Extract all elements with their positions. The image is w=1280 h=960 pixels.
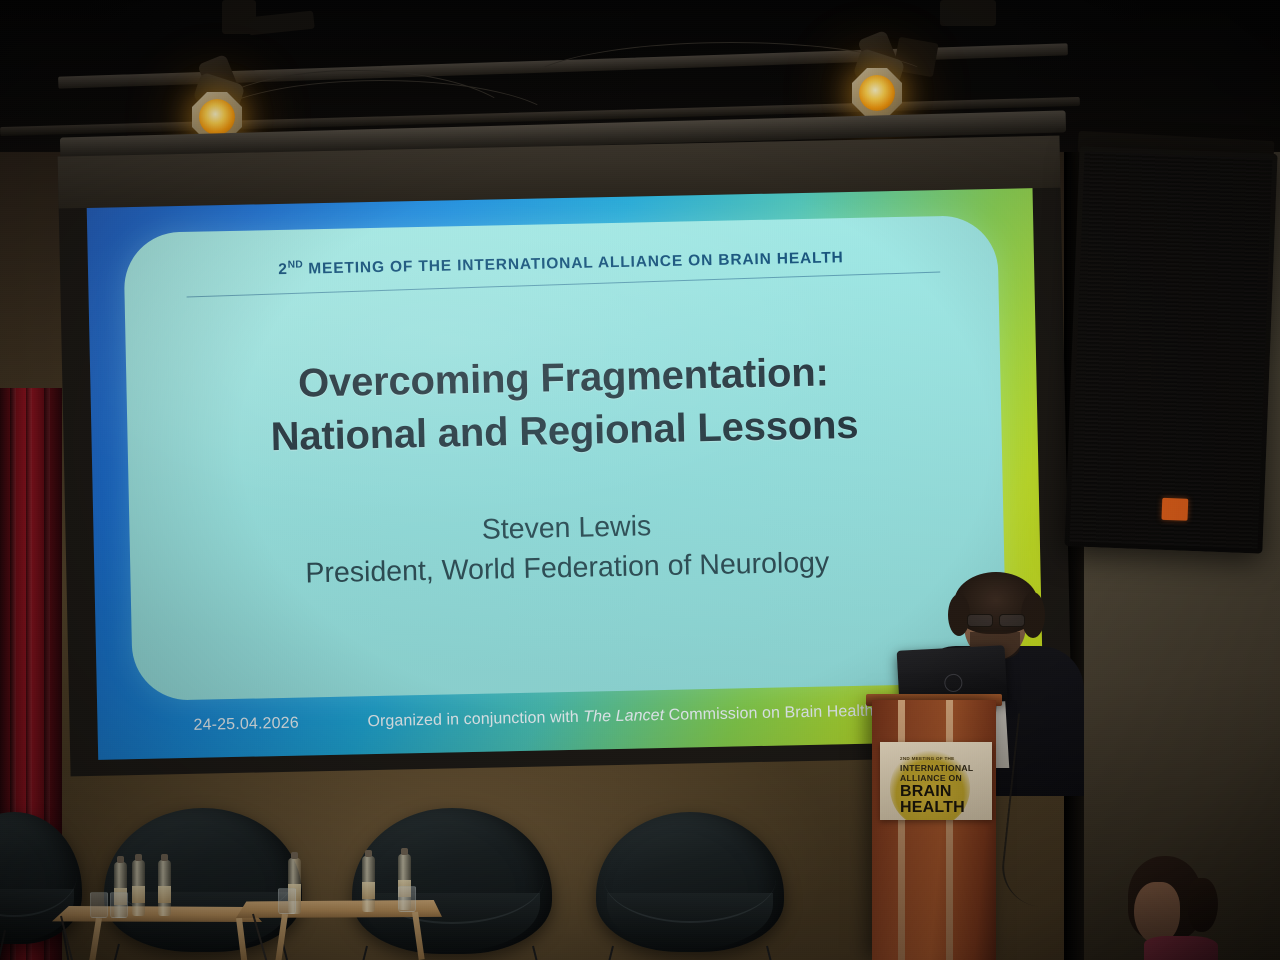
bottle-cap xyxy=(117,856,124,863)
drinking-glass xyxy=(90,892,108,918)
slide-content-panel: 2ND MEETING OF THE INTERNATIONAL ALLIANC… xyxy=(123,215,1007,701)
speaker-brand-badge-icon xyxy=(1161,498,1188,521)
wall-loudspeaker xyxy=(1064,146,1277,553)
lectern xyxy=(872,700,996,960)
lectern-inlay-strip xyxy=(898,700,905,960)
slide-title: Overcoming Fragmentation: National and R… xyxy=(176,344,952,466)
bottle-cap xyxy=(291,852,298,859)
bottle-cap xyxy=(365,850,372,857)
sign-brain-word: BRAIN xyxy=(900,784,952,800)
organizer-text-post: Commission on Brain Health xyxy=(664,703,874,724)
speaker-grille xyxy=(1070,152,1273,549)
bottle-label xyxy=(132,886,145,903)
sign-line-1: INTERNATIONAL xyxy=(900,763,973,773)
attendee-scarf xyxy=(1144,936,1218,960)
organizer-journal-name: The Lancet xyxy=(583,707,664,726)
drinking-glass xyxy=(278,888,296,914)
sign-tiny-line: 2ND MEETING OF THE xyxy=(900,756,954,761)
truss-clamp xyxy=(940,0,996,26)
slide-kicker-ordinal-suffix: ND xyxy=(288,259,304,270)
bottle-label xyxy=(158,886,171,903)
sign-health-word: HEALTH xyxy=(900,800,965,816)
attendee-person xyxy=(1108,856,1258,960)
water-bottle xyxy=(132,860,145,916)
slide-kicker-text: MEETING OF THE INTERNATIONAL ALLIANCE ON… xyxy=(303,249,844,277)
sign-line-2: ALLIANCE ON xyxy=(900,773,962,783)
slide-kicker-heading: 2ND MEETING OF THE INTERNATIONAL ALLIANC… xyxy=(124,245,998,282)
drinking-glass xyxy=(110,892,128,918)
slide-footer-organizer: Organized in conjunction with The Lancet… xyxy=(367,703,873,732)
lectern-inlay-strip xyxy=(946,700,953,960)
bottle-label xyxy=(362,882,375,899)
slide-footer-date: 24-25.04.2026 xyxy=(193,715,299,735)
attendee-face xyxy=(1134,882,1180,944)
slide-kicker-number: 2 xyxy=(278,261,288,278)
bottle-cap xyxy=(161,854,168,861)
spotlight-lens xyxy=(199,99,235,135)
organizer-text-pre: Organized in conjunction with xyxy=(367,709,583,731)
lounge-chair xyxy=(352,808,552,954)
bottle-cap xyxy=(401,848,408,855)
drinking-glass xyxy=(398,886,416,912)
lectern-branding-sign: 2ND MEETING OF THE INTERNATIONAL ALLIANC… xyxy=(880,742,992,820)
water-bottle xyxy=(362,856,375,912)
attendee-ponytail xyxy=(1188,878,1218,932)
slide-presenter-block: Steven Lewis President, World Federation… xyxy=(179,500,955,597)
conference-photo-scene: 2ND MEETING OF THE INTERNATIONAL ALLIANC… xyxy=(0,0,1280,960)
spotlight-lens xyxy=(859,75,895,111)
bottle-cap xyxy=(135,854,142,861)
side-table xyxy=(52,906,262,922)
water-bottle xyxy=(158,860,171,916)
lounge-chair xyxy=(596,812,784,952)
lounge-chair xyxy=(0,812,82,944)
laptop-logo-icon xyxy=(944,673,963,692)
presenter-glasses-icon xyxy=(967,614,1025,625)
